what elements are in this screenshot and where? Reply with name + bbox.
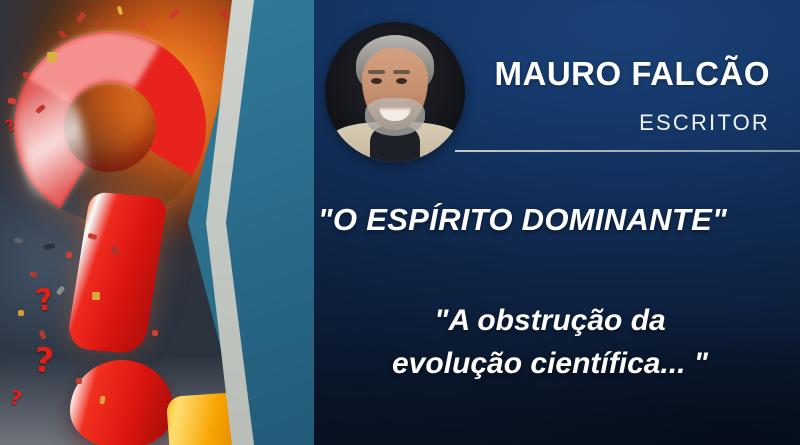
promo-banner: ???? MAURO FALCÃO ESCRITOR "O ESPÍRITO D… [0, 0, 800, 445]
confetti-particle [96, 20, 101, 25]
quote-title: "O ESPÍRITO DOMINANTE" [245, 203, 800, 237]
header-divider [455, 150, 800, 152]
avatar-brow-left [368, 70, 385, 74]
confetti-particle [47, 52, 57, 62]
confetti-particle [205, 46, 212, 53]
confetti-particle [14, 237, 24, 243]
quote-body: "A obstrução da evolução científica... " [300, 300, 800, 385]
confetti-particle [76, 378, 82, 384]
confetti-particle [18, 310, 24, 316]
confetti-particle [152, 330, 158, 336]
confetti-particle [23, 72, 29, 78]
avatar [325, 22, 465, 162]
avatar-eye-left [371, 78, 382, 84]
speaker-name: MAURO FALCÃO [495, 57, 770, 90]
question-mark-dot [70, 360, 174, 445]
confetti-particle [92, 292, 100, 300]
quote-body-line-2: evolução científica... " [300, 343, 800, 386]
avatar-brow-right [393, 70, 410, 74]
avatar-eye-right [396, 78, 407, 84]
confetti-particle [140, 22, 146, 28]
quote-body-line-1: "A obstrução da [300, 300, 800, 343]
speaker-role: ESCRITOR [639, 112, 770, 134]
confetti-particle [66, 252, 72, 258]
mini-question-mark-icon: ? [32, 343, 55, 379]
